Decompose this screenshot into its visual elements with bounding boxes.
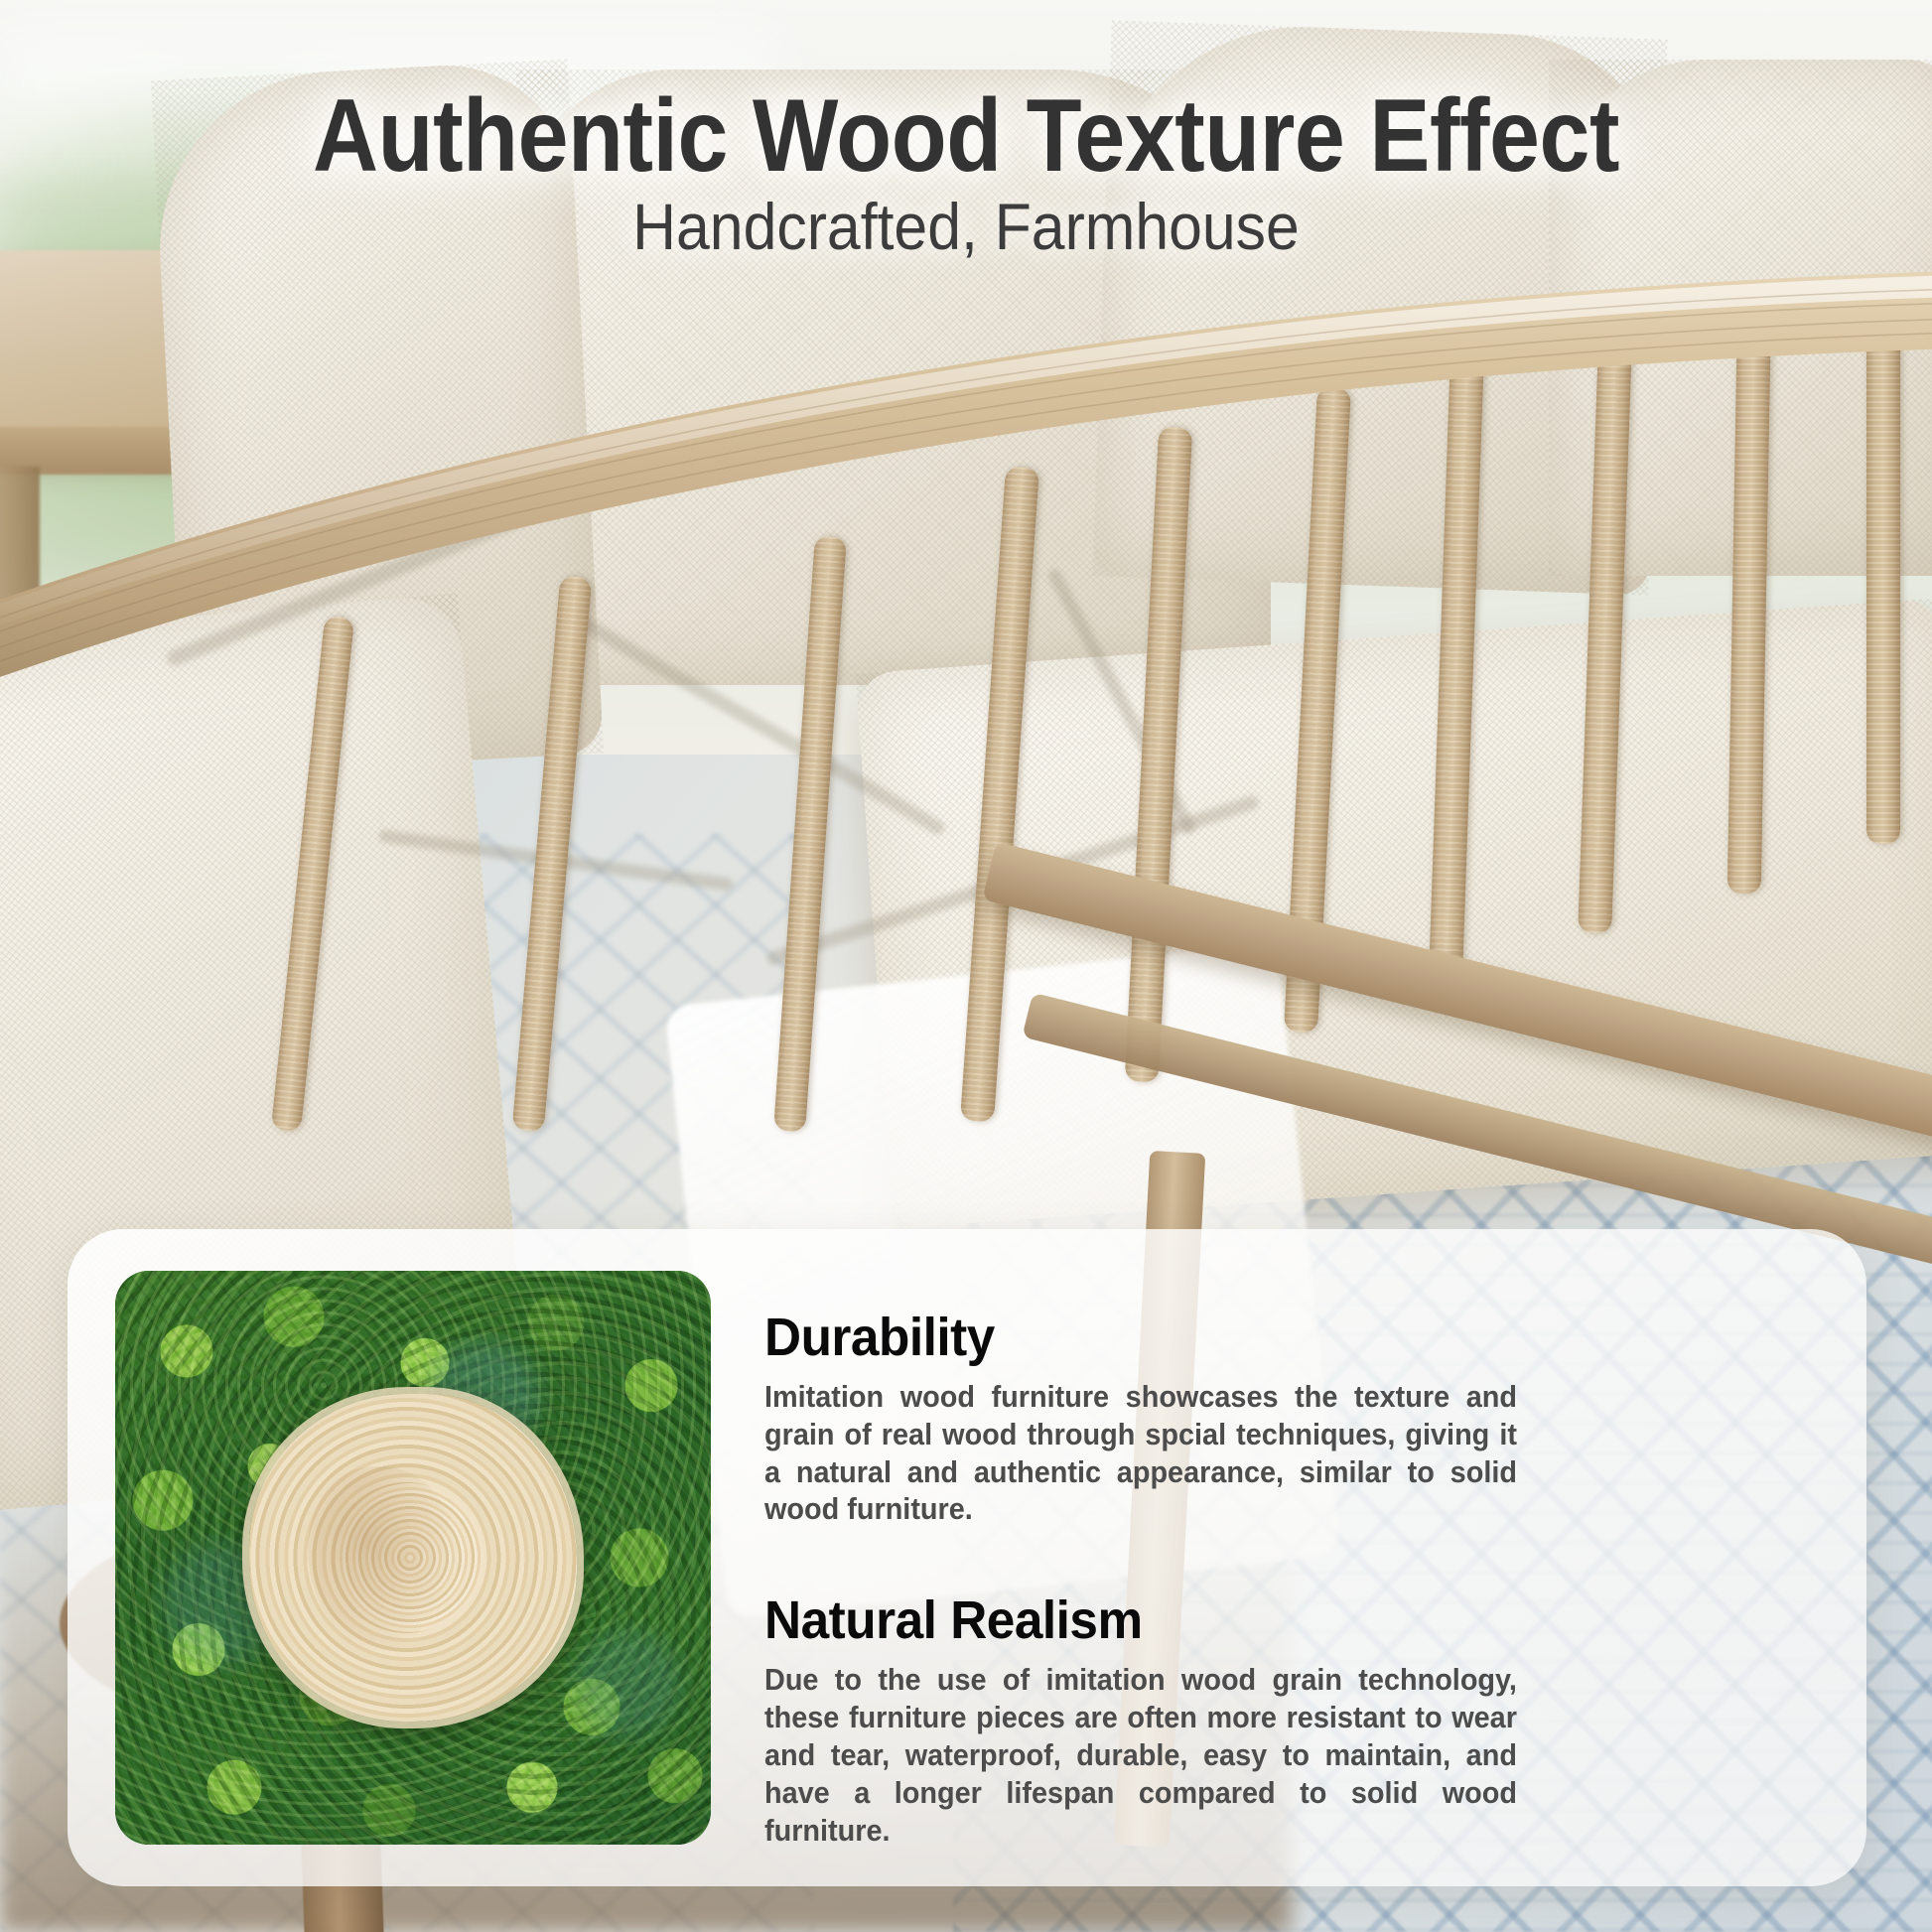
feature-body: Imitation wood furniture showcases the t… <box>764 1378 1517 1528</box>
feature-card: Durability Imitation wood furniture show… <box>68 1229 1866 1886</box>
tree-stump-rings-icon <box>249 1394 577 1722</box>
product-marketing-image: Authentic Wood Texture Effect Handcrafte… <box>0 0 1932 1932</box>
forest-stump-image <box>115 1271 711 1845</box>
feature-heading: Durability <box>764 1307 1758 1368</box>
page-title: Authentic Wood Texture Effect <box>116 77 1816 196</box>
feature-text-column: Durability Imitation wood furniture show… <box>711 1229 1866 1886</box>
feature-body: Due to the use of imitation wood grain t… <box>764 1661 1517 1849</box>
feature-block-durability: Durability Imitation wood furniture show… <box>764 1307 1811 1528</box>
curved-top-rail <box>0 216 1932 683</box>
feature-block-natural-realism: Natural Realism Due to the use of imitat… <box>764 1589 1811 1849</box>
feature-heading: Natural Realism <box>764 1589 1758 1651</box>
page-subtitle: Handcrafted, Farmhouse <box>77 189 1855 264</box>
